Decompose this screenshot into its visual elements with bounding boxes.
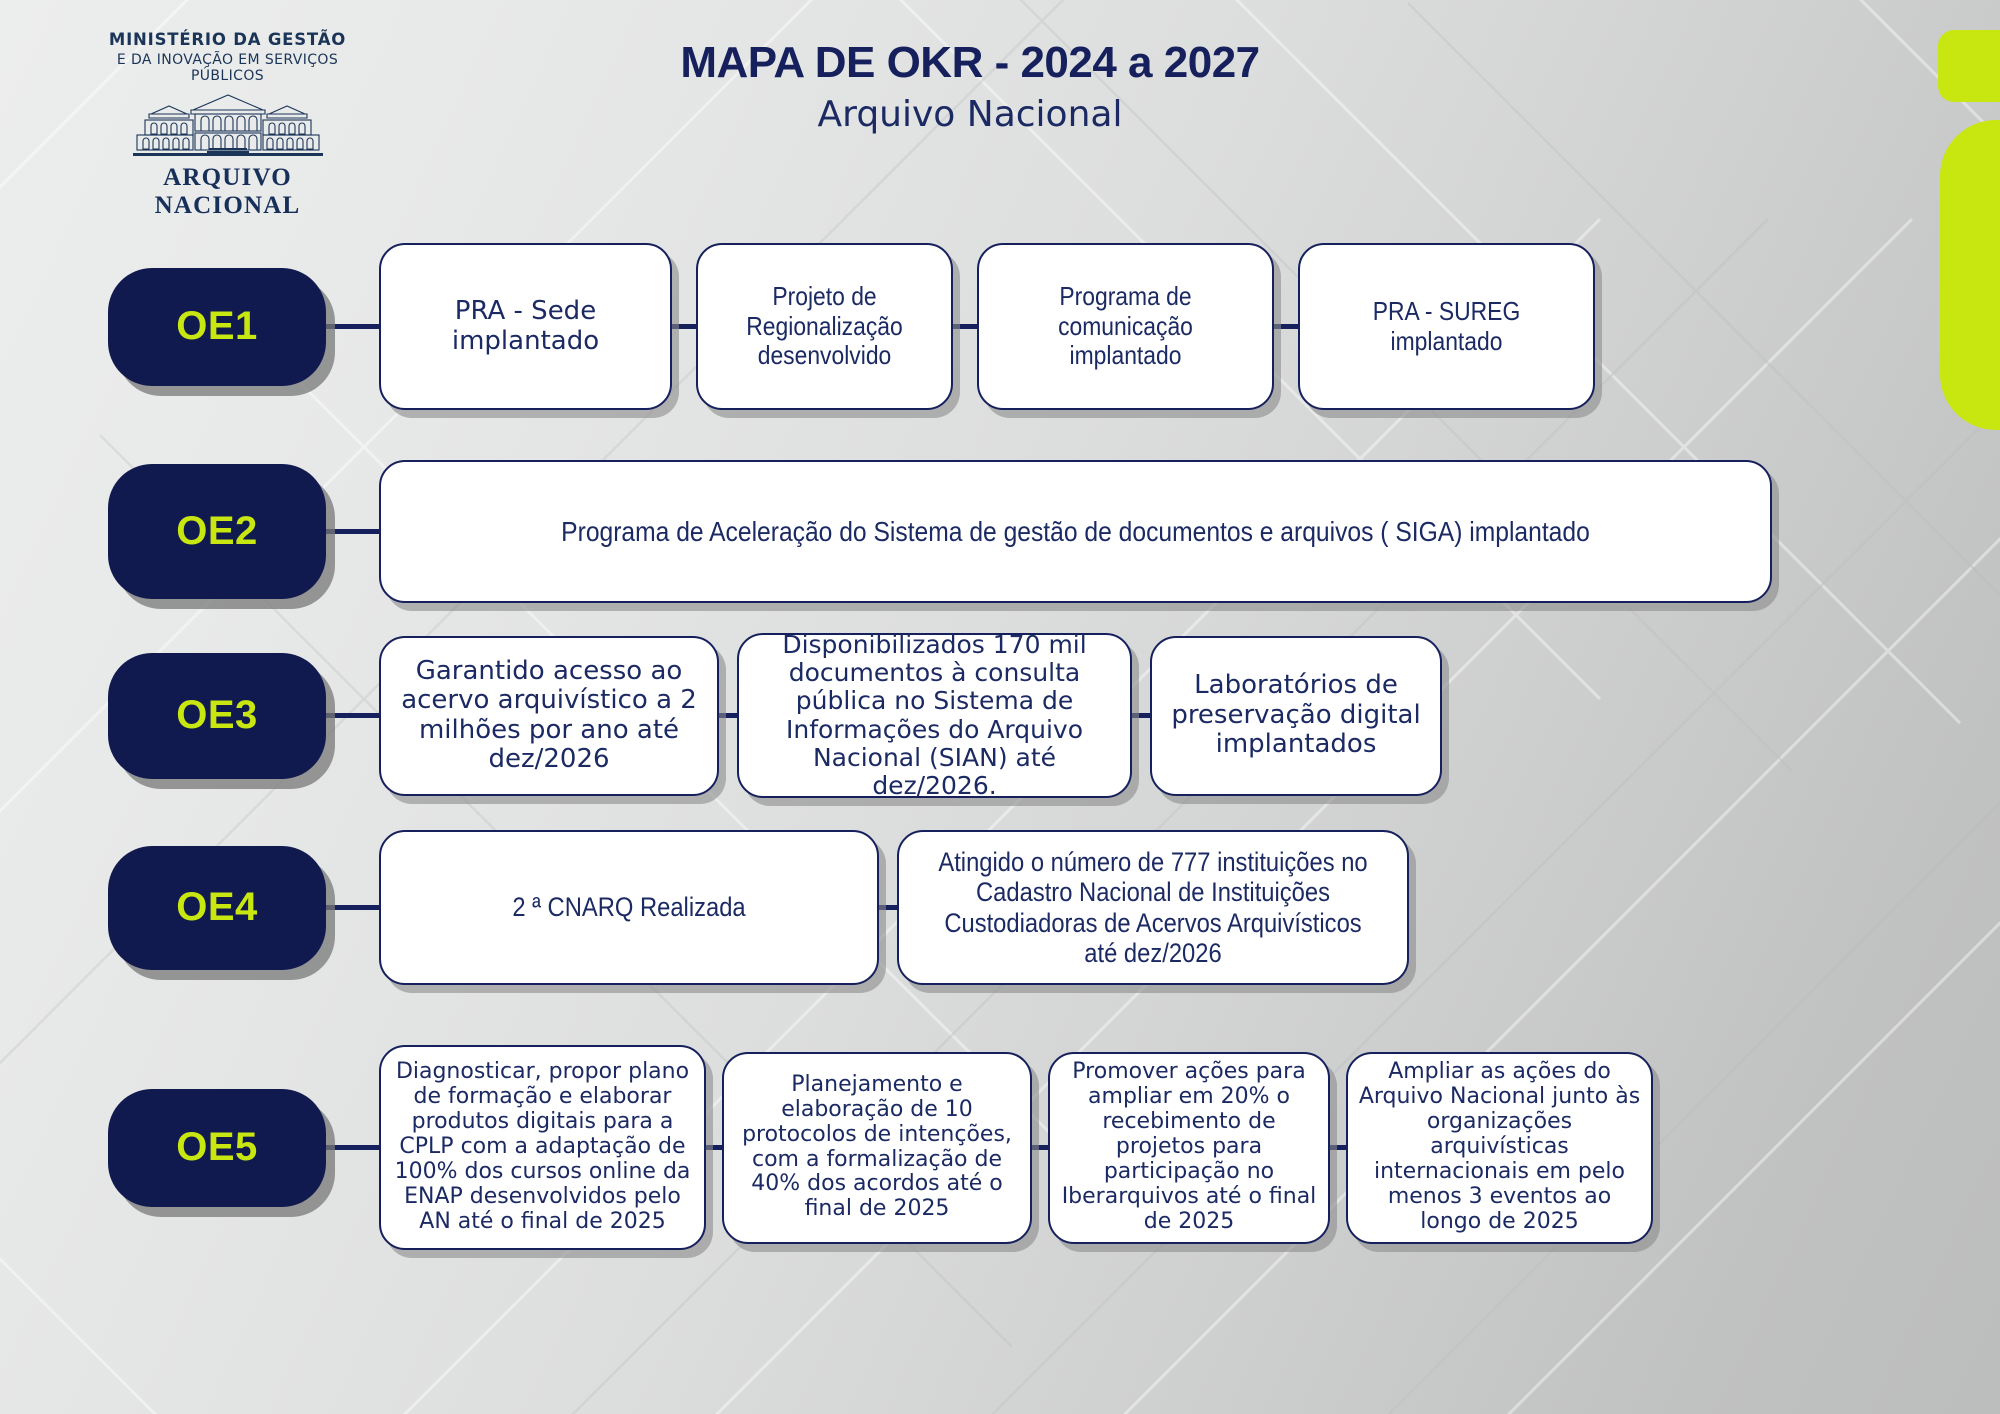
key-result-box[interactable]: Projeto de Regionalização desenvolvido <box>696 243 953 410</box>
connector-line <box>1330 1145 1346 1150</box>
okr-row-oe1: OE1 PRA - Sede implantado Projeto de Reg… <box>108 243 1595 410</box>
logo-archive-name: ARQUIVO NACIONAL <box>95 164 360 220</box>
objective-label: OE2 <box>176 509 258 554</box>
objective-label: OE5 <box>176 1125 258 1170</box>
key-result-box[interactable]: Planejamento e elaboração de 10 protocol… <box>722 1052 1032 1244</box>
connector-line <box>879 905 897 910</box>
header: MINISTÉRIO DA GESTÃO E DA INOVAÇÃO EM SE… <box>0 0 2000 235</box>
connector-line <box>326 324 379 329</box>
okr-row-oe5: OE5 Diagnosticar, propor plano de formaç… <box>108 1045 1653 1250</box>
key-result-box[interactable]: Laboratórios de preservação digital impl… <box>1150 636 1442 796</box>
key-result-text: Atingido o número de 777 instituições no… <box>937 847 1370 969</box>
key-result-box[interactable]: Disponibilizados 170 mil documentos à co… <box>737 633 1132 798</box>
connector-line <box>1032 1145 1048 1150</box>
objective-pill-oe2[interactable]: OE2 <box>108 464 326 599</box>
objective-pill-oe5[interactable]: OE5 <box>108 1089 326 1207</box>
key-result-box[interactable]: PRA - Sede implantado <box>379 243 672 410</box>
key-result-box[interactable]: Garantido acesso ao acervo arquivístico … <box>379 636 719 796</box>
key-result-box[interactable]: PRA - SUREG implantado <box>1298 243 1595 410</box>
key-result-text: Ampliar as ações do Arquivo Nacional jun… <box>1356 1060 1643 1234</box>
connector-line <box>953 324 977 329</box>
key-result-text: Projeto de Regionalização desenvolvido <box>720 282 929 370</box>
ministry-logo: MINISTÉRIO DA GESTÃO E DA INOVAÇÃO EM SE… <box>95 30 360 180</box>
objective-pill-oe3[interactable]: OE3 <box>108 653 326 779</box>
key-result-text: Planejamento e elaboração de 10 protocol… <box>732 1073 1022 1222</box>
connector-line <box>672 324 696 329</box>
key-result-text: 2 ª CNARQ Realizada <box>418 892 840 923</box>
key-result-text: PRA - Sede implantado <box>389 297 662 356</box>
key-result-text: Programa de Aceleração do Sistema de ges… <box>471 516 1679 548</box>
logo-ministry-subline: E DA INOVAÇÃO EM SERVIÇOS PÚBLICOS <box>95 52 360 84</box>
connector-line <box>719 713 737 718</box>
logo-ministry-line: MINISTÉRIO DA GESTÃO <box>95 30 360 49</box>
objective-label: OE1 <box>176 304 258 349</box>
connector-line <box>326 1145 379 1150</box>
connector-line <box>326 529 379 534</box>
okr-row-oe3: OE3 Garantido acesso ao acervo arquivíst… <box>108 633 1442 798</box>
okr-row-oe4: OE4 2 ª CNARQ Realizada Atingido o númer… <box>108 830 1409 985</box>
key-result-box[interactable]: Programa de comunicação implantado <box>977 243 1274 410</box>
key-result-box[interactable]: Diagnosticar, propor plano de formação e… <box>379 1045 706 1250</box>
connector-line <box>326 905 379 910</box>
national-archive-building-icon <box>95 90 360 162</box>
key-result-box[interactable]: Promover ações para ampliar em 20% o rec… <box>1048 1052 1330 1244</box>
okr-row-oe2: OE2 Programa de Aceleração do Sistema de… <box>108 460 1772 603</box>
page-title: MAPA DE OKR - 2024 a 2027 <box>520 38 1420 88</box>
objective-pill-oe4[interactable]: OE4 <box>108 846 326 970</box>
slide-canvas: MINISTÉRIO DA GESTÃO E DA INOVAÇÃO EM SE… <box>0 0 2000 1414</box>
connector-line <box>706 1145 722 1150</box>
key-result-text: PRA - SUREG implantado <box>1325 297 1569 356</box>
key-result-text: Diagnosticar, propor plano de formação e… <box>389 1060 696 1234</box>
key-result-box[interactable]: 2 ª CNARQ Realizada <box>379 830 879 985</box>
key-result-text: Disponibilizados 170 mil documentos à co… <box>747 631 1122 801</box>
key-result-box[interactable]: Ampliar as ações do Arquivo Nacional jun… <box>1346 1052 1653 1244</box>
connector-line <box>326 713 379 718</box>
connector-line <box>1132 713 1150 718</box>
page-subtitle: Arquivo Nacional <box>520 94 1420 135</box>
objective-label: OE4 <box>176 885 258 930</box>
key-result-text: Promover ações para ampliar em 20% o rec… <box>1058 1060 1320 1234</box>
key-result-text: Laboratórios de preservação digital impl… <box>1160 671 1432 759</box>
objective-label: OE3 <box>176 693 258 738</box>
objective-pill-oe1[interactable]: OE1 <box>108 268 326 386</box>
title-block: MAPA DE OKR - 2024 a 2027 Arquivo Nacion… <box>520 38 1420 135</box>
key-result-text: Garantido acesso ao acervo arquivístico … <box>389 657 709 775</box>
key-result-text: Programa de comunicação implantado <box>1004 282 1248 370</box>
key-result-box[interactable]: Atingido o número de 777 instituições no… <box>897 830 1409 985</box>
key-result-box[interactable]: Programa de Aceleração do Sistema de ges… <box>379 460 1772 603</box>
connector-line <box>1274 324 1298 329</box>
